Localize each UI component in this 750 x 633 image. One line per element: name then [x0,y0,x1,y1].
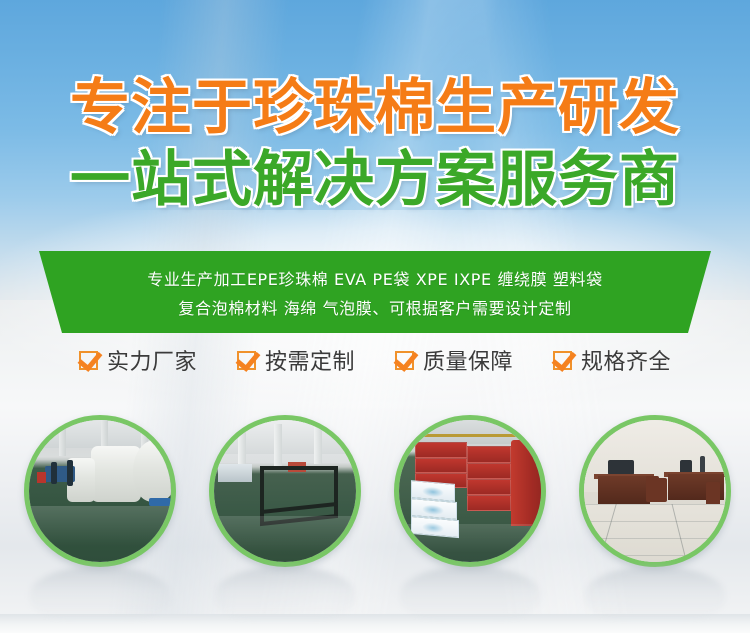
office-chair [656,478,667,502]
red-package [415,442,467,458]
floor-sheen [399,524,541,562]
printer [608,460,634,475]
worker [67,460,73,486]
check-box-icon [395,351,414,370]
ribbon-line-1: 专业生产加工EPE珍珠棉 EVA PE袋 XPE IXPE 缠绕膜 塑料袋 [147,266,602,290]
rack-bar [260,502,338,514]
photo-frame-3 [394,415,546,567]
photo-reflection-3 [400,566,540,622]
ribbon-text: 专业生产加工EPE珍珠棉 EVA PE袋 XPE IXPE 缠绕膜 塑料袋 复合… [0,251,750,333]
headline: 专注于珍珠棉生产研发 一站式解决方案服务商 [0,78,750,210]
photo-reflection-4 [585,566,725,622]
red-package [415,458,467,473]
photo-frame-4 [579,415,731,567]
check-box-icon [237,351,256,370]
photo-circle-1 [24,415,176,567]
photo-circle-3 [394,415,546,567]
foam-roll [133,440,171,502]
promo-banner: 专注于珍珠棉生产研发 一站式解决方案服务商 专业生产加工EPE珍珠棉 EVA P… [0,0,750,633]
photo-factory-foam-rolls [29,420,171,562]
red-box [37,472,46,483]
red-foam-roll [511,440,541,526]
rack-bar [260,466,338,470]
office-desk [598,476,650,504]
headline-line-1: 专注于珍珠棉生产研发 [0,78,750,138]
column [59,420,66,456]
photo-gallery [0,413,750,573]
photo-circle-2 [209,415,361,567]
headline-line-2: 一站式解决方案服务商 [0,150,750,210]
photo-circle-4 [579,415,731,567]
floor-sheen [29,506,171,562]
red-package [467,446,511,463]
worker [51,462,57,484]
feature-label-3: 质量保障 [423,344,513,376]
red-package [467,479,511,495]
red-package [467,495,511,511]
ribbon-line-2: 复合泡棉材料 海绵 气泡膜、可根据客户需要设计定制 [178,295,571,319]
ceiling-beam [407,434,527,437]
feature-item-4: 规格齐全 [553,344,671,376]
feature-list: 实力厂家 按需定制 质量保障 规格齐全 [0,340,750,380]
photo-frame-2 [209,415,361,567]
photo-warehouse-rack [214,420,356,562]
green-ribbon: 专业生产加工EPE珍珠棉 EVA PE袋 XPE IXPE 缠绕膜 塑料袋 复合… [0,251,750,333]
feature-label-2: 按需定制 [265,344,355,376]
blue-bin [149,498,171,506]
tiled-floor [584,504,726,562]
column [274,424,282,470]
photo-frame-1 [24,415,176,567]
check-box-icon [79,351,98,370]
photo-reflection-1 [30,566,170,622]
rack-bar [334,466,338,518]
feature-label-1: 实力厂家 [107,344,197,376]
feature-item-3: 质量保障 [395,344,513,376]
ceiling [214,420,356,454]
red-package [467,463,511,479]
photo-packaged-stock [399,420,541,562]
feature-label-4: 规格齐全 [581,344,671,376]
column [314,424,322,464]
feature-item-2: 按需定制 [237,344,355,376]
photo-reflection-2 [215,566,355,622]
photo-office [584,420,726,562]
feature-item-1: 实力厂家 [79,344,197,376]
stacked-goods [218,464,252,482]
check-box-icon [553,351,572,370]
floor-sheen [214,516,356,562]
